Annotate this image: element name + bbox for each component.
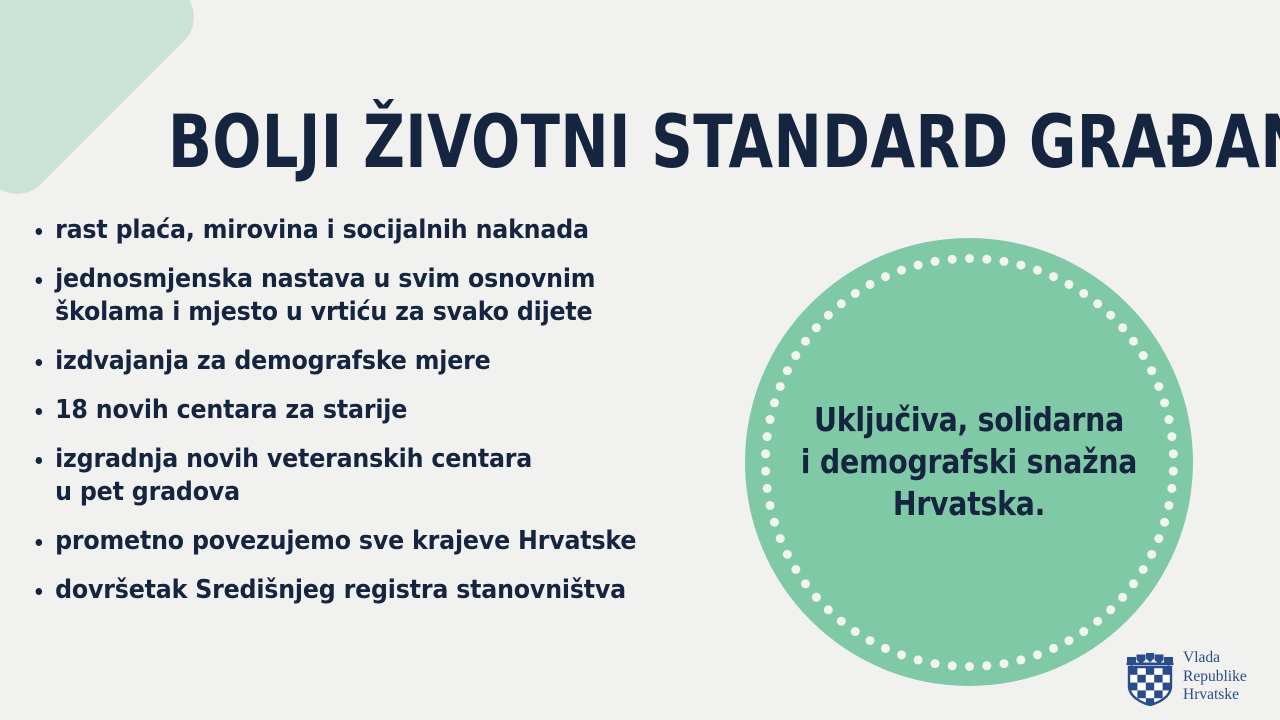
logo-line-1: Vlada [1183,649,1247,668]
ring-dot [850,288,859,297]
ring-dot [999,256,1008,265]
ring-dot [775,534,784,543]
ring-dot [1093,616,1102,625]
ring-dot [836,616,845,625]
ring-dot [1118,592,1127,601]
ring-dot [880,272,889,281]
list-item: dovršetak Središnjeg registra stanovništ… [30,574,709,607]
ring-dot [1032,265,1041,274]
ring-dot [800,579,809,588]
ring-dot [865,279,874,288]
ring-dot [1064,636,1073,645]
list-item-line1: rast plaća, mirovina i socijalnih naknad… [55,215,589,245]
list-item: 18 novih centara za starije [30,394,709,427]
ring-dot [913,655,922,664]
ring-dot [1079,288,1088,297]
ring-dot [782,549,791,558]
ring-dot [982,254,991,263]
ring-dot [850,627,859,636]
ring-dot [982,661,991,670]
ring-dot [823,605,832,614]
ring-dot [1106,310,1115,319]
ring-dot [1147,366,1156,375]
ring-dot [775,381,784,390]
logo-line-3: Hrvatske [1183,686,1247,705]
ring-dot [1138,351,1147,360]
slogan-line-2: i demografski snažna [776,441,1161,483]
page-title: BOLJI ŽIVOTNI STANDARD GRAĐANA [168,101,942,185]
ring-dot [913,260,922,269]
ring-dot [999,659,1008,668]
ring-dot [897,265,906,274]
ring-dot [947,661,956,670]
ring-dot [1079,627,1088,636]
list-item-line2: u pet gradova [55,476,709,509]
ring-dot [1154,381,1163,390]
ring-dot [800,336,809,345]
slogan-text: Uključiva, solidarna i demografski snažn… [745,399,1193,525]
ring-dot [811,323,820,332]
ring-dot [1154,534,1163,543]
ring-dot [1129,579,1138,588]
ring-dot [1049,643,1058,652]
ring-dot [1093,299,1102,308]
ring-dot [865,636,874,645]
ring-dot [791,351,800,360]
list-item-line1: jednosmjenska nastava u svim osnovnim [55,264,595,294]
ring-dot [1032,650,1041,659]
ring-dot [782,366,791,375]
slide-canvas: BOLJI ŽIVOTNI STANDARD GRAĐANA rast plać… [0,0,1280,720]
list-item: izgradnja novih veteranskih centara u pe… [30,443,709,509]
ring-dot [1106,605,1115,614]
list-item: jednosmjenska nastava u svim osnovnim šk… [30,263,709,329]
list-item: izdvajanja za demografske mjere [30,345,709,378]
list-item: rast plaća, mirovina i socijalnih naknad… [30,214,709,247]
logo-line-2: Republike [1183,668,1247,687]
ring-dot [1016,655,1025,664]
slogan-line-3: Hrvatska. [776,483,1161,525]
list-item-line1: dovršetak Središnjeg registra stanovništ… [55,575,626,605]
government-logo: Vlada Republike Hrvatske [1126,648,1247,706]
list-item-line1: 18 novih centara za starije [55,395,407,425]
ring-dot [811,592,820,601]
list-item-line1: prometno povezujemo sve krajeve Hrvatske [55,526,636,556]
slogan-line-1: Uključiva, solidarna [776,399,1161,441]
slogan-circle-badge: Uključiva, solidarna i demografski snažn… [745,238,1193,686]
ring-dot [930,256,939,265]
ring-dot [1049,272,1058,281]
ring-dot [965,662,974,671]
list-item-line1: izgradnja novih veteranskih centara [55,444,532,474]
ring-dot [1016,260,1025,269]
ring-dot [1138,564,1147,573]
ring-dot [1118,323,1127,332]
ring-dot [1064,279,1073,288]
ring-dot [836,299,845,308]
list-item-line1: izdvajanja za demografske mjere [55,346,490,376]
ring-dot [965,254,974,263]
ring-dot [880,643,889,652]
government-logo-text: Vlada Republike Hrvatske [1183,649,1247,705]
bullet-list: rast plaća, mirovina i socijalnih naknad… [30,214,760,623]
ring-dot [947,254,956,263]
ring-dot [930,659,939,668]
ring-dot [791,564,800,573]
list-item: prometno povezujemo sve krajeve Hrvatske [30,525,709,558]
ring-dot [823,310,832,319]
ring-dot [1147,549,1156,558]
ring-dot [1129,336,1138,345]
list-item-line2: školama i mjesto u vrtiću za svako dijet… [55,296,709,329]
ring-dot [897,650,906,659]
croatian-coat-of-arms-icon [1126,648,1174,706]
